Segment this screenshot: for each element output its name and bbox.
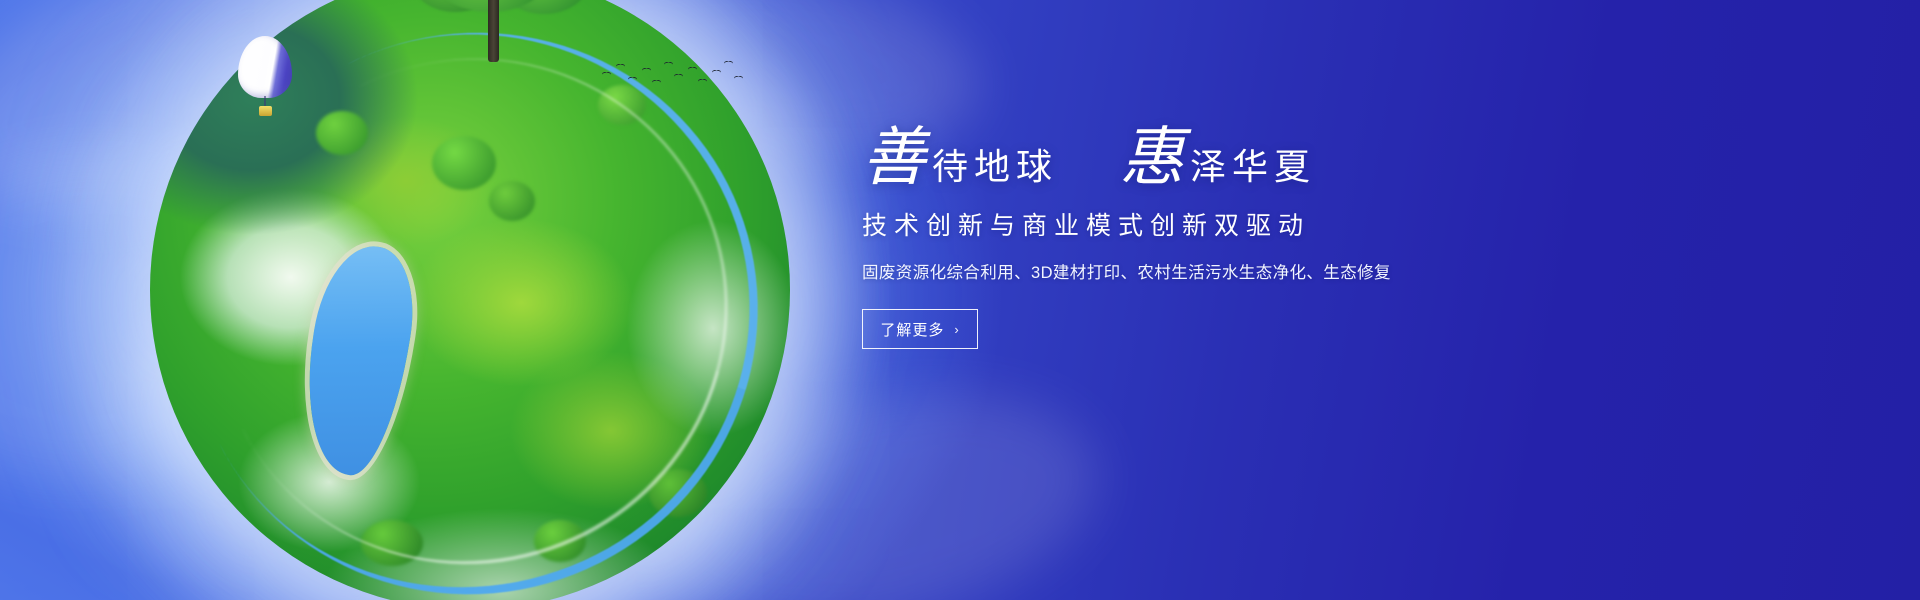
tree-trunk: [488, 0, 499, 62]
bird-icon: [676, 74, 683, 78]
learn-more-button[interactable]: 了解更多 ›: [862, 309, 978, 349]
hero-banner: 善 待地球 惠 泽华夏 技术创新与商业模式创新双驱动 固废资源化综合利用、3D建…: [0, 0, 1920, 600]
bird-flock-icon: [596, 58, 746, 98]
bird-icon: [700, 79, 707, 83]
headline-group-2: 惠 泽华夏: [1120, 126, 1316, 190]
bird-icon: [654, 80, 661, 84]
balloon-basket: [259, 106, 272, 116]
headline-rest-chars: 待地球: [932, 149, 1058, 185]
headline-group-1: 善 待地球: [862, 126, 1058, 190]
headline-lead-char: 善: [862, 126, 926, 190]
headline-lead-char: 惠: [1120, 126, 1184, 190]
bird-icon: [604, 72, 611, 76]
bird-icon: [736, 76, 743, 80]
bird-icon: [714, 70, 721, 74]
subtitle-primary: 技术创新与商业模式创新双驱动: [862, 206, 1662, 242]
chevron-right-icon: ›: [954, 323, 959, 336]
bird-icon: [690, 67, 697, 71]
learn-more-label: 了解更多: [880, 319, 944, 340]
subtitle-secondary: 固废资源化综合利用、3D建材打印、农村生活污水生态净化、生态修复: [862, 259, 1662, 283]
bird-icon: [644, 68, 651, 72]
hot-air-balloon-icon: [238, 36, 292, 118]
bird-icon: [666, 62, 673, 66]
bird-icon: [726, 61, 733, 65]
balloon-envelope: [238, 36, 292, 98]
page-title: 善 待地球 惠 泽华夏: [862, 126, 1662, 190]
bird-icon: [618, 64, 625, 68]
tree-icon: [412, 0, 592, 64]
hero-copy: 善 待地球 惠 泽华夏 技术创新与商业模式创新双驱动 固废资源化综合利用、3D建…: [862, 126, 1662, 349]
bird-icon: [630, 77, 637, 81]
headline-rest-chars: 泽华夏: [1190, 149, 1316, 185]
